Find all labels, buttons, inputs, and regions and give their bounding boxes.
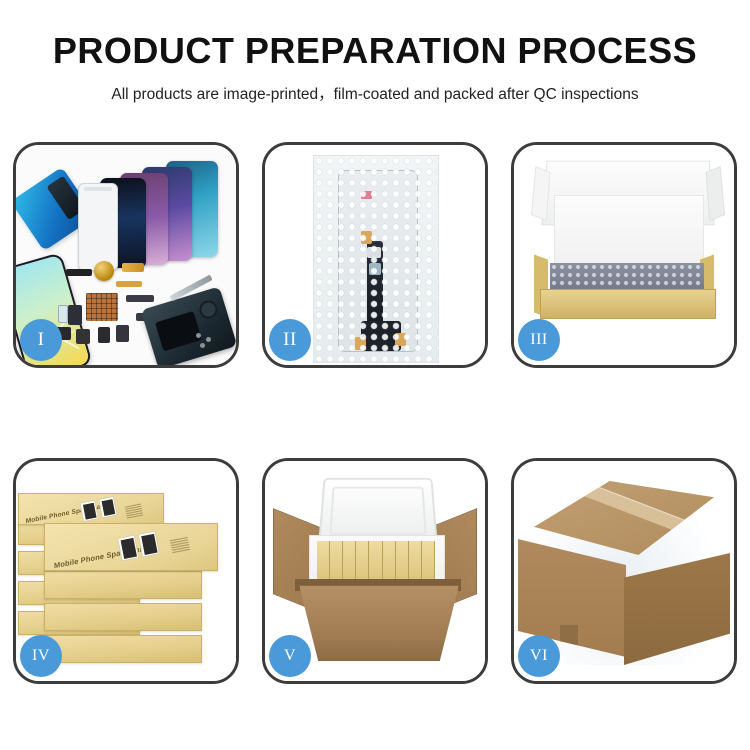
header: PRODUCT PREPARATION PROCESS All products… — [0, 32, 750, 104]
page-subtitle: All products are image-printed，film-coat… — [0, 82, 750, 104]
part-icon — [126, 295, 154, 302]
part-icon — [98, 327, 110, 343]
part-icon — [58, 305, 68, 323]
part-icon — [66, 269, 92, 276]
step-badge-4: IV — [20, 635, 62, 677]
box-inner-wall-icon — [554, 195, 704, 267]
bubble-bag-icon — [313, 155, 439, 363]
part-icon — [116, 281, 142, 287]
process-step-grid: I II — [13, 142, 737, 676]
process-step-6[interactable]: VI — [511, 458, 737, 684]
carton-body-icon — [299, 585, 459, 661]
step-badge-2: II — [269, 319, 311, 361]
part-icon — [68, 305, 82, 325]
retail-box-printed: Mobile Phone Spare Parts — [44, 523, 218, 571]
retail-box — [44, 571, 202, 599]
step-badge-3: III — [518, 319, 560, 361]
chip-grid-icon — [86, 293, 118, 321]
part-icon — [76, 329, 90, 344]
process-step-4[interactable]: Mobile Phone Spare Parts — [13, 458, 239, 684]
step-badge-6: VI — [518, 635, 560, 677]
step-badge-5: V — [269, 635, 311, 677]
process-step-1[interactable]: I — [13, 142, 239, 368]
process-step-2[interactable]: II — [262, 142, 488, 368]
speaker-part-icon — [94, 261, 114, 281]
bubble-wrap-texture — [314, 156, 438, 362]
retail-box-printed: Mobile Phone Spare Parts — [18, 493, 164, 525]
retail-box — [44, 603, 202, 631]
kraft-tray-front-icon — [540, 289, 716, 319]
screen-glass-icon — [78, 183, 118, 271]
product-preparation-infographic: PRODUCT PREPARATION PROCESS All products… — [0, 0, 750, 750]
page-title: PRODUCT PREPARATION PROCESS — [0, 32, 750, 70]
part-icon — [122, 263, 144, 272]
process-step-3[interactable]: III — [511, 142, 737, 368]
part-icon — [116, 325, 129, 342]
screws-icon — [196, 333, 218, 349]
step-badge-1: I — [20, 319, 62, 361]
retail-box — [44, 635, 202, 663]
process-step-5[interactable]: V — [262, 458, 488, 684]
